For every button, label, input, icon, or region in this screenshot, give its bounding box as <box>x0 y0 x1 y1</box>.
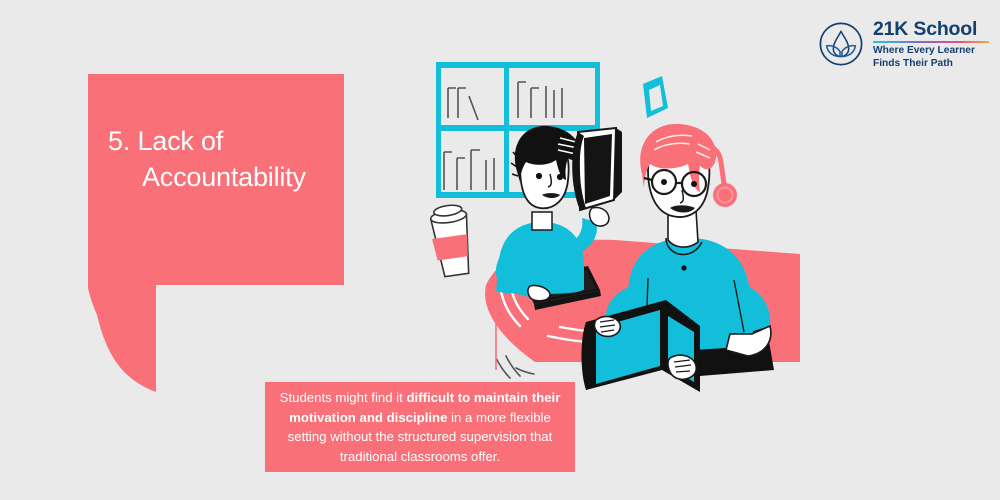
brand-logo: 21K School Where Every Learner Finds The… <box>818 16 990 72</box>
description-card: Students might find it difficult to main… <box>265 382 575 472</box>
description-text: Students might find it difficult to main… <box>265 388 575 466</box>
infographic-canvas: 5. Lack of Accountability <box>0 0 1000 500</box>
coffee-cup-icon <box>428 203 475 278</box>
lotus-in-circle-logo-icon <box>818 21 864 67</box>
description-segment-plain-1: Students might find it <box>280 390 407 405</box>
illustration-two-students-reading <box>400 40 800 400</box>
illustration-svg <box>400 40 800 400</box>
logo-tagline-line1: Where Every Learner <box>873 45 989 57</box>
logo-gradient-rule <box>873 41 989 44</box>
black-book-upper <box>572 128 622 210</box>
cyan-diamond-decoration <box>643 76 668 118</box>
callout-title: 5. Lack of Accountability <box>108 123 340 195</box>
callout-bubble-shape <box>88 74 344 394</box>
callout-title-number-and-line1: 5. Lack of <box>108 126 223 156</box>
logo-text-group: 21K School Where Every Learner Finds The… <box>873 18 989 70</box>
callout-title-line2: Accountability <box>108 159 340 195</box>
callout-bubble: 5. Lack of Accountability <box>88 74 344 394</box>
logo-brand-name: 21K School <box>873 19 989 40</box>
logo-tagline-line2: Finds Their Path <box>873 58 989 70</box>
